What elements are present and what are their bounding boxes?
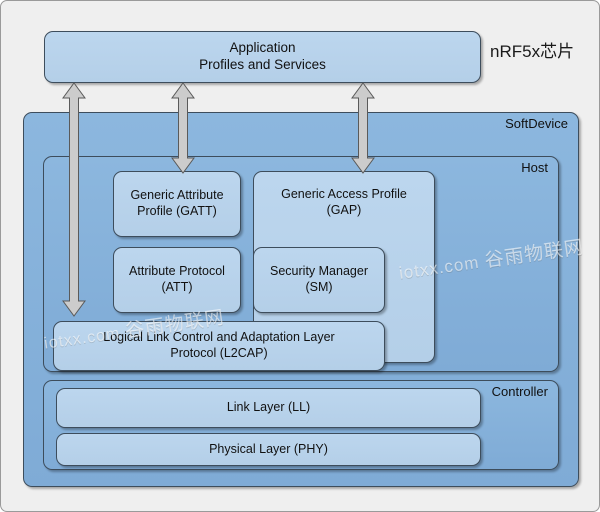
l2cap-line2: Protocol (L2CAP) bbox=[170, 346, 267, 362]
host-label: Host bbox=[521, 157, 558, 176]
gatt-block: Generic Attribute Profile (GATT) bbox=[113, 171, 241, 237]
chip-title: nRF5x芯片 bbox=[490, 37, 574, 62]
l2cap-line1: Logical Link Control and Adaptation Laye… bbox=[103, 330, 334, 346]
link-layer-label: Link Layer (LL) bbox=[227, 400, 310, 416]
physical-layer-block: Physical Layer (PHY) bbox=[56, 433, 481, 466]
sm-line1: Security Manager bbox=[270, 264, 368, 280]
att-block: Attribute Protocol (ATT) bbox=[113, 247, 241, 313]
l2cap-block: Logical Link Control and Adaptation Laye… bbox=[53, 321, 385, 371]
application-block: Application Profiles and Services bbox=[44, 31, 481, 83]
gap-line1: Generic Access Profile bbox=[281, 187, 407, 203]
att-line2: (ATT) bbox=[161, 280, 192, 296]
softdevice-label: SoftDevice bbox=[505, 113, 578, 132]
gap-line2: (GAP) bbox=[327, 203, 362, 219]
application-line1: Application bbox=[229, 40, 295, 57]
att-line1: Attribute Protocol bbox=[129, 264, 225, 280]
link-layer-block: Link Layer (LL) bbox=[56, 388, 481, 428]
controller-label: Controller bbox=[492, 381, 558, 400]
application-line2: Profiles and Services bbox=[199, 57, 326, 74]
physical-layer-label: Physical Layer (PHY) bbox=[209, 442, 328, 458]
security-manager-block: Security Manager (SM) bbox=[253, 247, 385, 313]
sm-line2: (SM) bbox=[305, 280, 332, 296]
gatt-line1: Generic Attribute bbox=[130, 188, 223, 204]
diagram-canvas: nRF5x芯片 Application Profiles and Service… bbox=[0, 0, 600, 512]
gatt-line2: Profile (GATT) bbox=[137, 204, 217, 220]
